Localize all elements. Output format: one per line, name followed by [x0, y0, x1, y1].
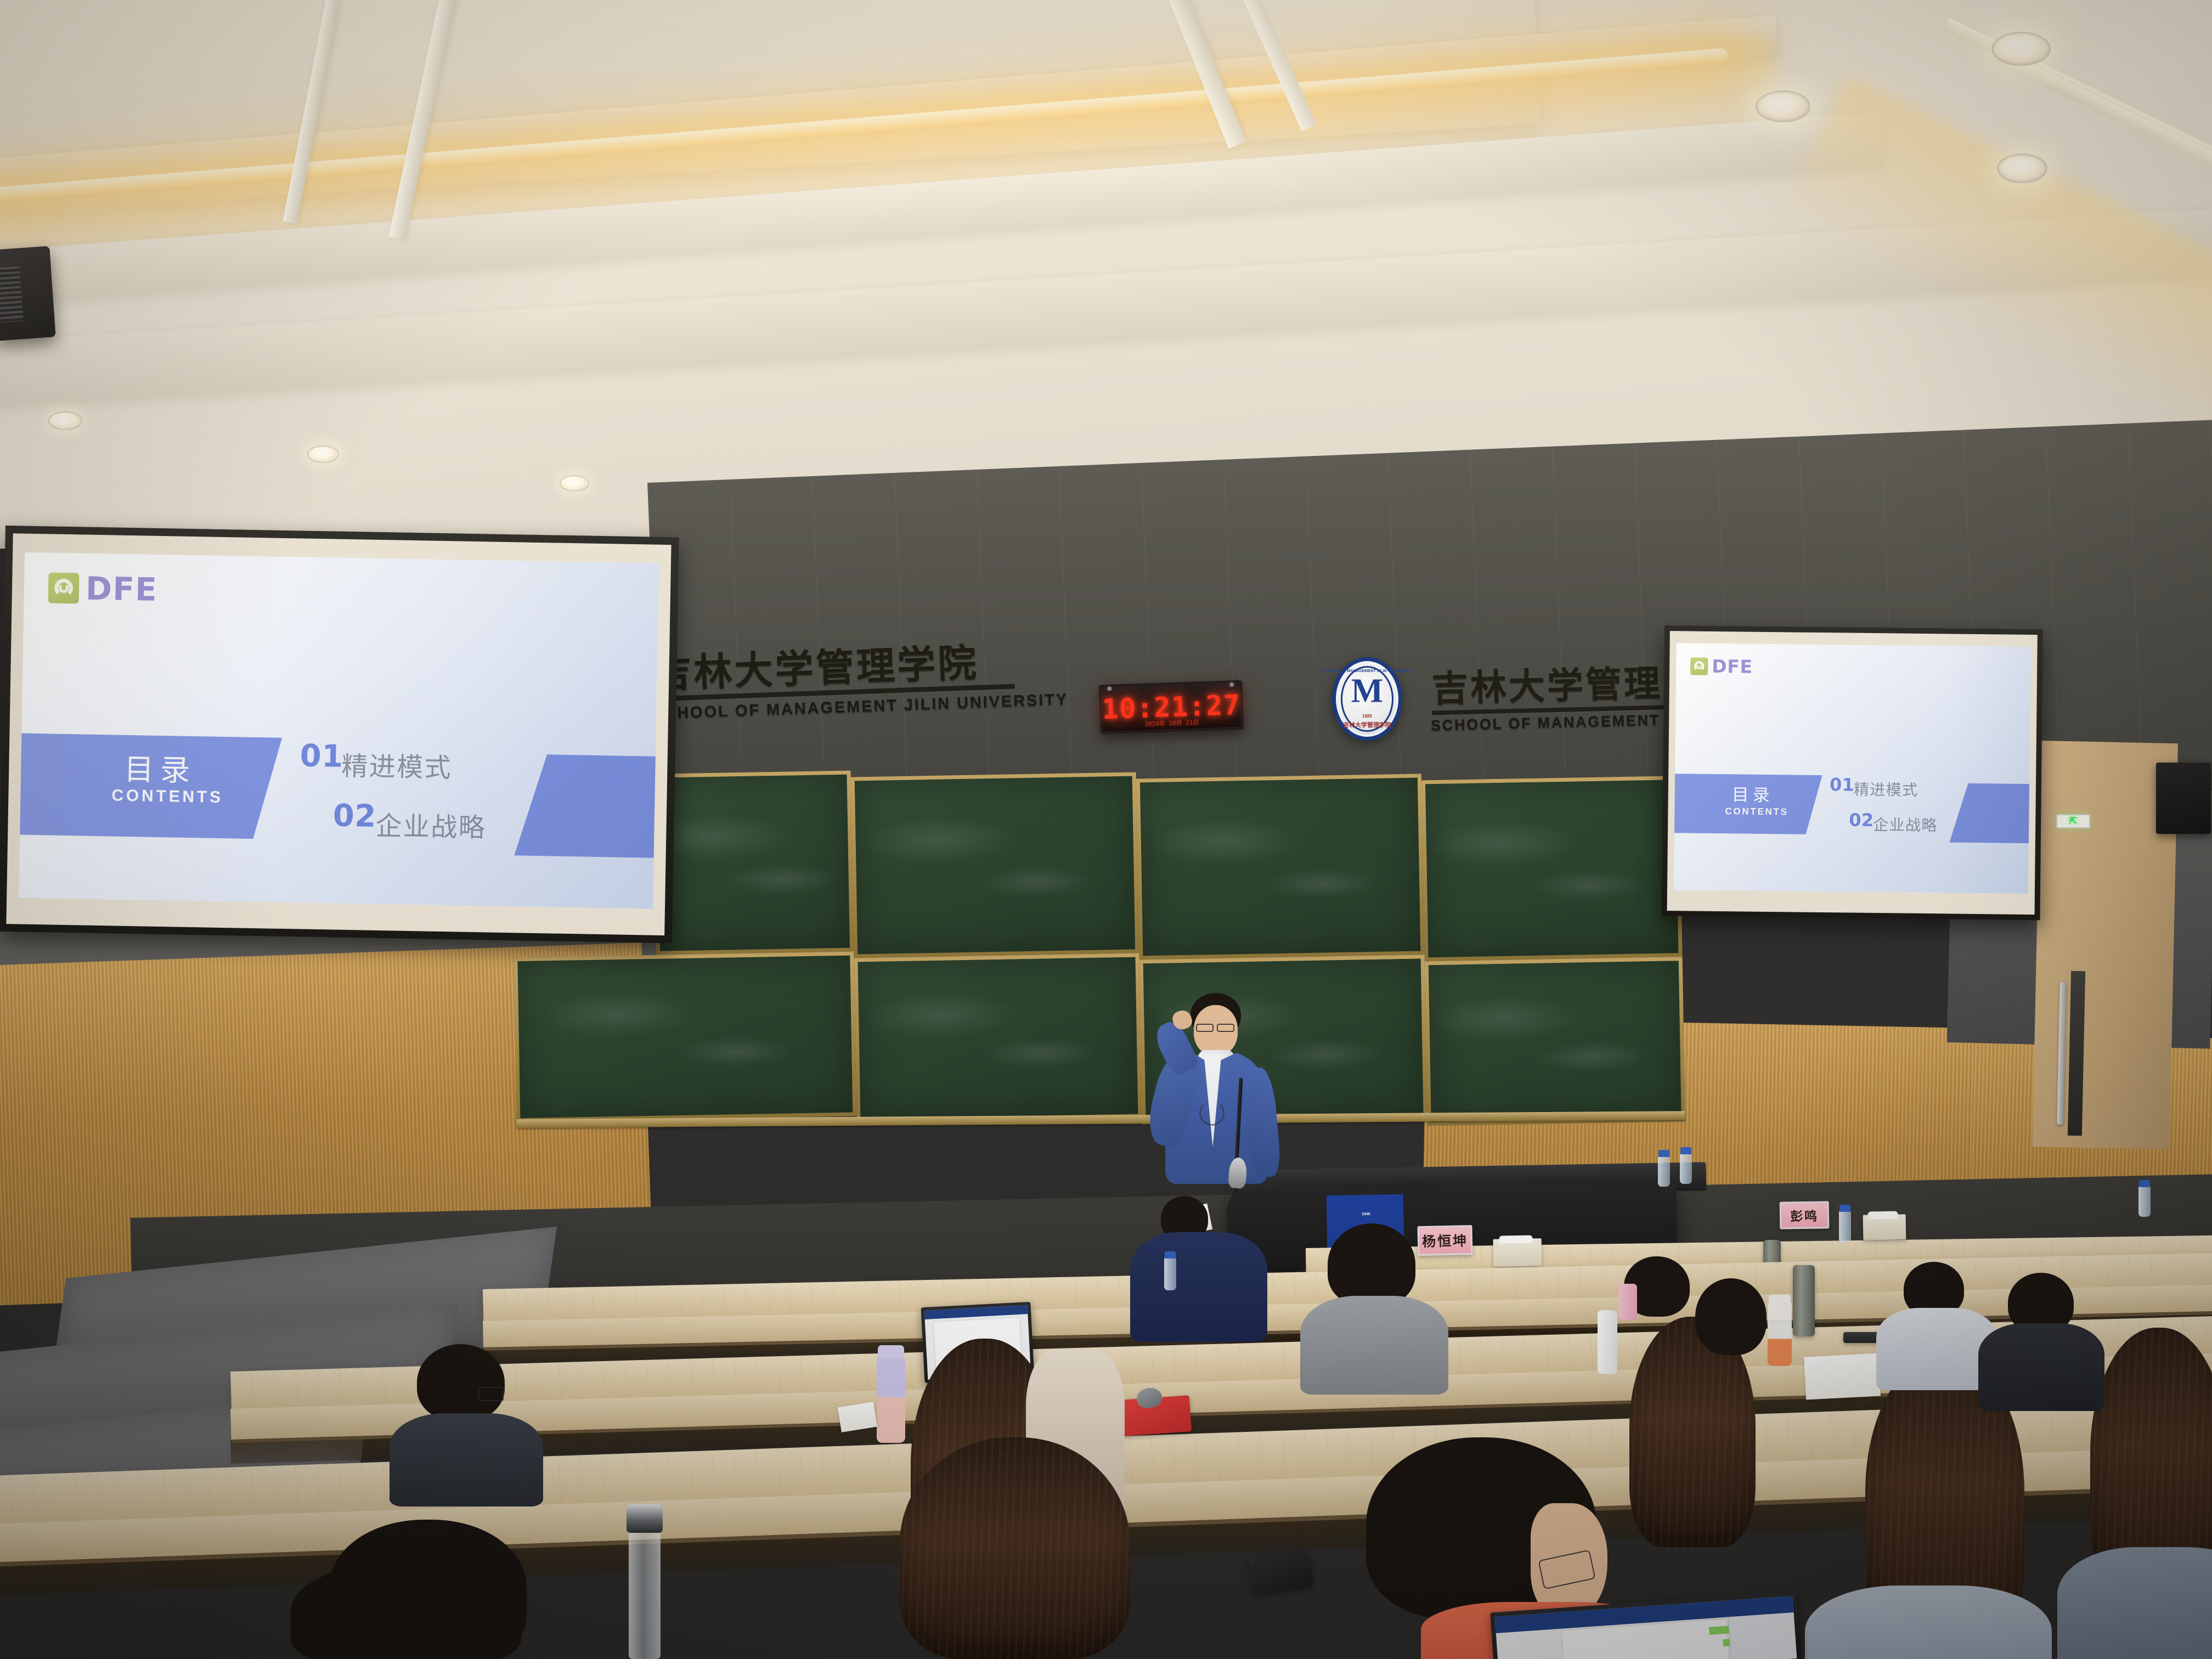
slide-left: DFE 目录 CONTENTS 01 精进模式 02 企业战略: [19, 552, 659, 909]
student-front-left-b-glasses-icon: [478, 1387, 504, 1401]
slide-right-menu-en: CONTENTS: [1725, 806, 1788, 817]
lecture-hall-photo: ⇱ 吉林大学管理学院 SCHOOL OF MANAGEMENT JILIN UN…: [0, 0, 2212, 1659]
slide-right-item-1-num: 02: [1849, 810, 1874, 831]
blackboard-panel-top-left: [653, 771, 854, 955]
tissue-box-center: [1493, 1238, 1542, 1267]
slide-right-item-1-label: 企业战略: [1873, 813, 1938, 836]
glass-bottle-cap: [627, 1504, 663, 1533]
name-placard-1-text: 杨恒坤: [1422, 1230, 1469, 1251]
purple-pink-bottle: [877, 1355, 905, 1443]
projector: [0, 246, 56, 341]
laptop-side-panel: [1728, 1612, 1797, 1659]
student-grey-torso: [1300, 1296, 1448, 1395]
front-left-bottle: [2138, 1185, 2151, 1217]
slide-left-accent-shape: [514, 754, 659, 858]
open-notebook-right: [1804, 1353, 1881, 1400]
blackboard-panel-bot-mid: [854, 953, 1142, 1122]
slide-right-menu-cn: 目录: [1732, 781, 1774, 806]
emblem-glyph: M: [1351, 672, 1384, 711]
student-right-edge-torso: [2057, 1547, 2212, 1659]
downlight-1: [1991, 32, 2051, 66]
slide-left-menu-cn: 目录: [124, 745, 197, 789]
downlight-6: [560, 475, 589, 492]
speaker-glasses-icon: [1196, 1024, 1214, 1032]
emblem-bottom-text: 吉林大学管理学院: [1343, 720, 1391, 729]
student-navy-bottle-cap: [1165, 1251, 1176, 1259]
school-emblem: SCHOOL OF MANAGEMENT JILIN UNIVERSITY M …: [1332, 657, 1402, 741]
slide-right: DFE 目录 CONTENTS 01 精进模式 02 企业战略: [1674, 643, 2031, 894]
student-navy-bottle: [1164, 1256, 1176, 1290]
speaker-glasses-icon-2: [1217, 1024, 1234, 1032]
slide-right-item-0-label: 精进模式: [1854, 778, 1918, 800]
name-placard-2-text: 彭鸣: [1790, 1206, 1819, 1225]
projection-screen-left: DFE 目录 CONTENTS 01 精进模式 02 企业战略: [0, 526, 679, 943]
podium-bottle-2-cap: [1680, 1147, 1691, 1154]
slide-left-item-1-label: 企业战略: [375, 804, 487, 845]
downlight-2: [1756, 91, 1810, 122]
student-denim-jacket: [1805, 1585, 2052, 1659]
slide-left-item-0-num: 01: [300, 738, 343, 774]
blackboard-panel-top-mid: [851, 772, 1139, 958]
podium-bottle-1-cap: [1658, 1150, 1669, 1157]
dfe-spiral-outer-right: [1696, 663, 1702, 669]
student-bun-a-hair: [1695, 1278, 1767, 1355]
slide-right-shading: [1674, 643, 2031, 894]
grey-thermos: [1793, 1265, 1815, 1336]
blackboard-panel-top-far: [1421, 776, 1683, 961]
podium-year: 1946: [1362, 1212, 1370, 1216]
dfe-logo-left: DFE: [48, 569, 157, 608]
downlight-4: [48, 411, 82, 430]
slide-right-accent-shape: [1949, 783, 2030, 844]
downlight-5: [307, 445, 339, 463]
juice-bottle: [1768, 1301, 1792, 1366]
clock-screw-left: [1107, 686, 1112, 691]
exit-sign: ⇱: [2056, 814, 2090, 828]
blackboard-panel-bot-far: [1425, 957, 1685, 1126]
slide-left-item-1-num: 02: [332, 798, 376, 834]
front-desk-bottle-cap: [1839, 1205, 1850, 1212]
student-grey-hair: [1328, 1223, 1415, 1306]
student-bottom-left-hair: [291, 1561, 521, 1659]
glass-bottle-foreground: [629, 1525, 661, 1659]
emblem-year: 1985: [1362, 714, 1372, 719]
slide-left-item-0-label: 精进模式: [341, 744, 453, 785]
blackboard-assembly: [521, 739, 1735, 1177]
exit-sign-icon: ⇱: [2069, 816, 2077, 827]
juice-bottle-cap: [1769, 1295, 1791, 1304]
white-bottle: [1598, 1310, 1617, 1374]
podium-bottle-1: [1658, 1155, 1670, 1187]
slide-right-item-0-num: 01: [1830, 774, 1855, 795]
podium-bottle-2: [1680, 1152, 1692, 1184]
blackboard-panel-top-right: [1136, 774, 1425, 960]
student-navy-torso: [1130, 1232, 1267, 1342]
student-front-left-b-torso: [390, 1413, 543, 1506]
dfe-mark-icon-right: [1690, 657, 1708, 675]
dfe-mark-icon: [48, 572, 80, 603]
blackboard-panel-bot-left: [513, 951, 856, 1122]
speaker-mic-wire: [1199, 1101, 1224, 1126]
projection-screen-right: DFE 目录 CONTENTS 01 精进模式 02 企业战略: [1661, 625, 2043, 920]
dfe-wordmark-right: DFE: [1712, 656, 1753, 678]
downlight-3: [1997, 154, 2047, 183]
tissue-box-right: [1863, 1214, 1906, 1240]
digital-clock: 10:21:27 2024年 10月 21日: [1099, 680, 1244, 735]
student-front-left-b-hair: [417, 1344, 505, 1421]
wall-speaker: [2156, 763, 2211, 834]
phone-on-desk[interactable]: [1249, 1551, 1313, 1595]
front-left-bottle-cap: [2139, 1180, 2150, 1187]
purple-pink-bottle-cap: [878, 1345, 904, 1358]
slide-left-menu-en: CONTENTS: [111, 786, 223, 807]
name-placard-1: 杨恒坤: [1417, 1225, 1472, 1256]
name-placard-2: 彭鸣: [1780, 1201, 1830, 1229]
student-far-right-torso: [1978, 1323, 2104, 1411]
laptop-row-b-ribbon: [924, 1305, 1028, 1319]
dfe-logo-right: DFE: [1690, 655, 1753, 677]
dfe-wordmark: DFE: [85, 570, 157, 608]
pink-bottle: [1618, 1284, 1637, 1320]
clock-screw-right: [1229, 682, 1234, 687]
student-foreground-longhair-hair: [900, 1437, 1130, 1659]
front-desk-bottle: [1839, 1210, 1851, 1243]
wall-sign-cn-2: 吉林大学管理学: [1431, 653, 1701, 712]
